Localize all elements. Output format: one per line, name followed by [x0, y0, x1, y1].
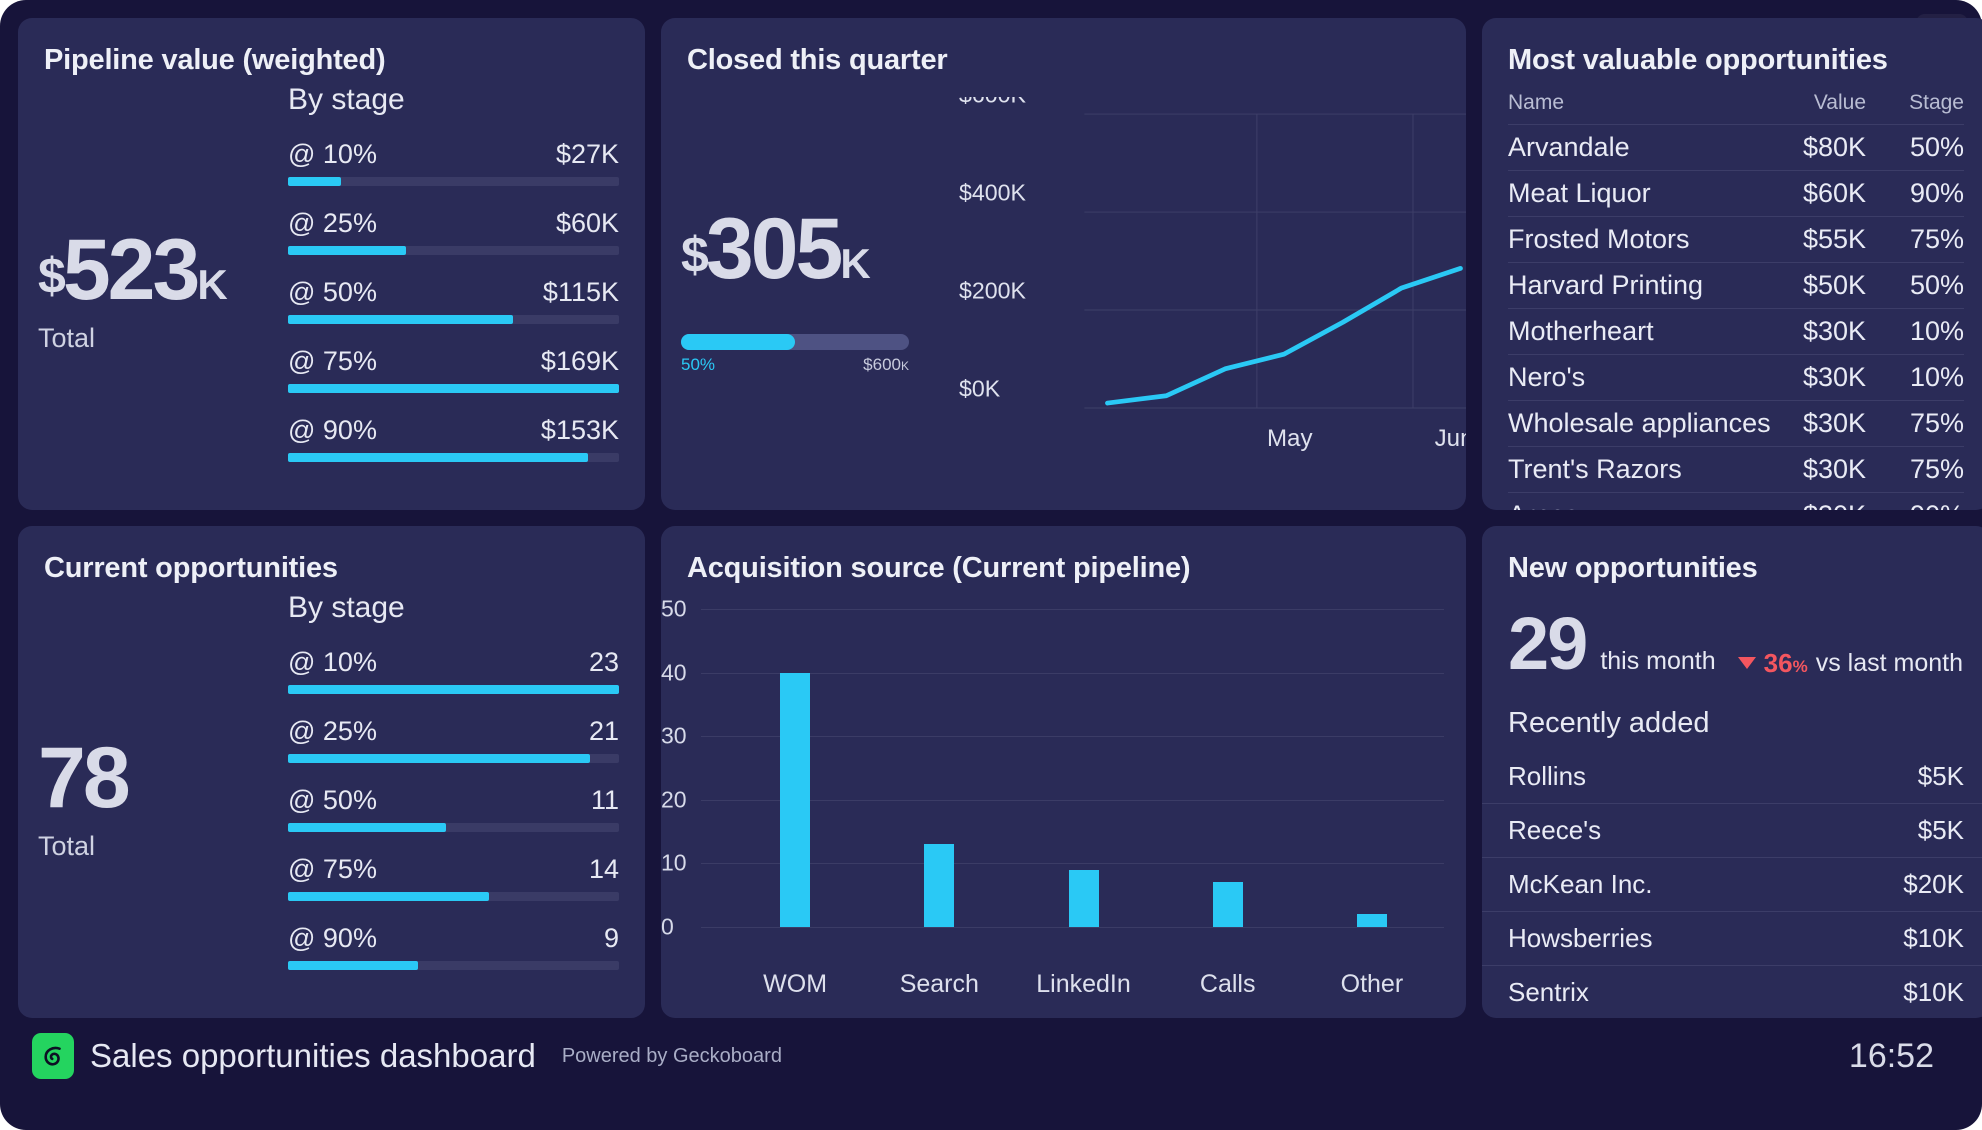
list-item[interactable]: Sentrix$10K [1482, 965, 1982, 1018]
cell-stage: 50% [1872, 125, 1964, 171]
closed-goal-progress: 50% $600K [681, 334, 909, 375]
svg-text:$200K: $200K [959, 278, 1027, 304]
pipeline-stage-fill [288, 384, 619, 393]
cell-value: $55K [1796, 217, 1872, 263]
svg-text:$0K: $0K [959, 376, 1001, 402]
bar [924, 844, 954, 927]
current-stage-value: 23 [589, 647, 619, 678]
cell-value: $30K [1796, 493, 1872, 511]
panel-title-pipeline-value: Pipeline value (weighted) [18, 18, 645, 77]
pipeline-stage-row: @ 50%$115K [288, 277, 619, 324]
cell-value: $30K [1796, 355, 1872, 401]
bar-column [867, 609, 1011, 927]
current-stage-track [288, 823, 619, 832]
panel-title-acquisition-source: Acquisition source (Current pipeline) [661, 526, 1466, 585]
pipeline-stage-row: @ 90%$153K [288, 415, 619, 462]
current-stage-label: @ 25% [288, 716, 377, 747]
current-stage-value: 14 [589, 854, 619, 885]
list-item[interactable]: Rollins$5K [1482, 750, 1982, 803]
closed-goal-max-suffix: K [901, 359, 909, 373]
pipeline-total-suffix: K [197, 261, 227, 308]
panel-most-valuable: Most valuable opportunities Name Value S… [1482, 18, 1982, 510]
new-opportunities-summary: 29 this month 36% vs last month [1482, 585, 1982, 681]
pipeline-stage-fill [288, 453, 588, 462]
list-item-value: $5K [1918, 761, 1964, 792]
new-opportunities-delta: 36% vs last month [1738, 648, 1963, 679]
cell-stage: 90% [1872, 493, 1964, 511]
list-item-name: Sentrix [1508, 977, 1589, 1008]
bar [1357, 914, 1387, 927]
pipeline-stage-row: @ 10%$27K [288, 139, 619, 186]
panel-acquisition-source: Acquisition source (Current pipeline) 01… [661, 526, 1466, 1018]
table-row[interactable]: Meat Liquor$60K90% [1508, 171, 1964, 217]
cell-name: Nero's [1508, 355, 1796, 401]
pipeline-stage-track [288, 246, 619, 255]
cell-name: Harvard Printing [1508, 263, 1796, 309]
cell-name: Frosted Motors [1508, 217, 1796, 263]
footer-title: Sales opportunities dashboard [90, 1037, 536, 1075]
cell-value: $50K [1796, 263, 1872, 309]
pipeline-stage-value: $153K [541, 415, 619, 446]
pipeline-stage-row: @ 75%$169K [288, 346, 619, 393]
closed-line-chart: $0K$200K$400K$600KMayJun [937, 77, 1466, 507]
table-row[interactable]: Wholesale appliances$30K75% [1508, 401, 1964, 447]
cell-name: Trent's Razors [1508, 447, 1796, 493]
current-stage-label: @ 75% [288, 854, 377, 885]
pipeline-stage-label: @ 25% [288, 208, 377, 239]
closed-goal-percent: 50% [681, 355, 715, 375]
caret-down-icon [1738, 657, 1756, 669]
pipeline-stage-track [288, 315, 619, 324]
list-item-value: $10K [1903, 923, 1964, 954]
cell-value: $60K [1796, 171, 1872, 217]
table-row[interactable]: Motherheart$30K10% [1508, 309, 1964, 355]
current-stage-track [288, 754, 619, 763]
current-stage-track [288, 961, 619, 970]
pipeline-total-number: $523K [38, 230, 288, 312]
current-stage-fill [288, 961, 418, 970]
pipeline-stage-value: $115K [543, 277, 619, 308]
list-item[interactable]: Reece's$5K [1482, 803, 1982, 857]
list-item-name: McKean Inc. [1508, 869, 1653, 900]
table-row[interactable]: Arvandale$80K50% [1508, 125, 1964, 171]
panel-title-current-opportunities: Current opportunities [18, 526, 645, 585]
pipeline-by-stage-heading: By stage [288, 83, 619, 117]
cell-value: $30K [1796, 401, 1872, 447]
list-item-value: $10K [1903, 977, 1964, 1008]
closed-total-currency: $ [681, 227, 706, 283]
current-stage-track [288, 685, 619, 694]
current-stage-row: @ 10%23 [288, 647, 619, 694]
recently-added-heading: Recently added [1482, 681, 1982, 750]
x-axis-tick-label: Other [1300, 970, 1444, 999]
pipeline-stage-label: @ 75% [288, 346, 377, 377]
bar [780, 673, 810, 927]
panel-current-opportunities: Current opportunities 78 Total By stage … [18, 526, 645, 1018]
svg-text:$600K: $600K [959, 97, 1027, 108]
closed-total-suffix: K [840, 240, 870, 287]
current-stage-fill [288, 754, 590, 763]
new-opportunities-period: this month [1600, 647, 1715, 676]
current-by-stage-heading: By stage [288, 591, 619, 625]
x-axis-tick-label: Calls [1156, 970, 1300, 999]
cell-name: Meat Liquor [1508, 171, 1796, 217]
current-stage-list: By stage @ 10%23@ 25%21@ 50%11@ 75%14@ 9… [288, 585, 645, 1015]
gridline [701, 927, 1444, 928]
current-stage-row: @ 25%21 [288, 716, 619, 763]
acquisition-plot-area [723, 609, 1444, 927]
pipeline-stage-label: @ 10% [288, 139, 377, 170]
x-axis-tick-label: WOM [723, 970, 867, 999]
current-stage-row: @ 50%11 [288, 785, 619, 832]
footer-powered-by: Powered by Geckoboard [562, 1045, 782, 1068]
pipeline-total-value: 523 [63, 222, 198, 318]
table-row[interactable]: Arnos$30K90% [1508, 493, 1964, 511]
current-total-block: 78 Total [18, 585, 288, 1015]
list-item-value: $5K [1918, 815, 1964, 846]
bar-column [1156, 609, 1300, 927]
cell-stage: 50% [1872, 263, 1964, 309]
list-item-name: Howsberries [1508, 923, 1653, 954]
new-opportunities-delta-label: vs last month [1816, 649, 1963, 678]
cell-value: $30K [1796, 447, 1872, 493]
table-row[interactable]: Harvard Printing$50K50% [1508, 263, 1964, 309]
delta-number: 36 [1764, 648, 1793, 678]
pipeline-stage-track [288, 384, 619, 393]
bar-column [1011, 609, 1155, 927]
new-opportunities-delta-value: 36% [1764, 648, 1808, 679]
bar [1213, 882, 1243, 927]
y-axis-tick-label: 10 [661, 850, 687, 877]
current-stage-value: 11 [591, 785, 619, 816]
current-stage-value: 9 [604, 923, 619, 954]
geckoboard-logo-icon [32, 1033, 74, 1079]
pipeline-total-block: $523K Total [18, 77, 288, 507]
table-header-row: Name Value Stage [1508, 91, 1964, 125]
panel-title-closed-quarter: Closed this quarter [661, 18, 1466, 77]
cell-stage: 75% [1872, 401, 1964, 447]
panel-new-opportunities: New opportunities 29 this month 36% vs l… [1482, 526, 1982, 1018]
current-stage-label: @ 10% [288, 647, 377, 678]
bar-column [1300, 609, 1444, 927]
dashboard-root: Pipeline value (weighted) $523K Total By… [0, 0, 1982, 1130]
current-stage-track [288, 892, 619, 901]
svg-text:Jun: Jun [1435, 425, 1466, 452]
table-row[interactable]: Trent's Razors$30K75% [1508, 447, 1964, 493]
list-item-name: Reece's [1508, 815, 1601, 846]
closed-goal-fill [681, 334, 795, 350]
pipeline-stage-fill [288, 177, 341, 186]
pipeline-stage-label: @ 50% [288, 277, 377, 308]
cell-stage: 10% [1872, 355, 1964, 401]
list-item[interactable]: McKean Inc.$20K [1482, 857, 1982, 911]
pipeline-stage-value: $169K [541, 346, 619, 377]
table-row[interactable]: Nero's$30K10% [1508, 355, 1964, 401]
closed-goal-max-value: $600 [863, 355, 901, 374]
most-valuable-table: Name Value Stage Arvandale$80K50%Meat Li… [1508, 91, 1964, 510]
closed-goal-track [681, 334, 909, 350]
current-stage-label: @ 50% [288, 785, 377, 816]
bar [1069, 870, 1099, 927]
current-stage-value: 21 [589, 716, 619, 747]
current-total-number: 78 [38, 738, 288, 820]
pipeline-stage-value: $27K [556, 139, 619, 170]
pipeline-stage-track [288, 453, 619, 462]
footer-clock: 16:52 [1849, 1037, 1948, 1076]
cell-stage: 90% [1872, 171, 1964, 217]
pipeline-stage-fill [288, 246, 406, 255]
pipeline-stage-label: @ 90% [288, 415, 377, 446]
panel-closed-this-quarter: Closed this quarter $305K 50% $600K [661, 18, 1466, 510]
cell-value: $80K [1796, 125, 1872, 171]
current-stage-row: @ 75%14 [288, 854, 619, 901]
pipeline-stage-value: $60K [556, 208, 619, 239]
current-stage-fill [288, 823, 446, 832]
new-opportunities-count: 29 [1508, 607, 1586, 681]
acquisition-bar-chart: 01020304050 WOMSearchLinkedInCallsOther [661, 585, 1466, 1005]
pipeline-stage-list: By stage @ 10%$27K@ 25%$60K@ 50%$115K@ 7… [288, 77, 645, 507]
svg-text:May: May [1267, 425, 1313, 452]
column-header-name: Name [1508, 91, 1796, 125]
closed-total-number: $305K [681, 209, 937, 291]
x-axis-tick-label: Search [867, 970, 1011, 999]
dashboard-footer: Sales opportunities dashboard Powered by… [18, 1018, 1964, 1094]
column-header-stage: Stage [1872, 91, 1964, 125]
table-row[interactable]: Frosted Motors$55K75% [1508, 217, 1964, 263]
current-stage-row: @ 90%9 [288, 923, 619, 970]
closed-total-value: 305 [706, 201, 841, 297]
y-axis-tick-label: 30 [661, 723, 687, 750]
panel-title-most-valuable: Most valuable opportunities [1482, 18, 1982, 77]
closed-quarter-line-svg: $0K$200K$400K$600KMayJun [959, 97, 1466, 463]
y-axis-tick-label: 0 [661, 914, 674, 941]
pipeline-stage-fill [288, 315, 513, 324]
svg-text:$400K: $400K [959, 180, 1027, 206]
cell-name: Motherheart [1508, 309, 1796, 355]
bar-column [723, 609, 867, 927]
cell-value: $30K [1796, 309, 1872, 355]
current-stage-fill [288, 892, 489, 901]
y-axis-tick-label: 40 [661, 659, 687, 686]
pipeline-total-currency: $ [38, 248, 63, 304]
current-stage-label: @ 90% [288, 923, 377, 954]
panel-pipeline-value: Pipeline value (weighted) $523K Total By… [18, 18, 645, 510]
y-axis-tick-label: 20 [661, 786, 687, 813]
list-item-name: Rollins [1508, 761, 1586, 792]
current-total-label: Total [38, 831, 288, 862]
panel-title-new-opportunities: New opportunities [1482, 526, 1982, 585]
list-item[interactable]: Howsberries$10K [1482, 911, 1982, 965]
cell-name: Arvandale [1508, 125, 1796, 171]
closed-total-block: $305K 50% $600K [667, 77, 937, 507]
column-header-value: Value [1796, 91, 1872, 125]
pipeline-stage-track [288, 177, 619, 186]
cell-stage: 10% [1872, 309, 1964, 355]
pipeline-total-label: Total [38, 323, 288, 354]
delta-unit: % [1793, 657, 1808, 676]
cell-name: Wholesale appliances [1508, 401, 1796, 447]
cell-name: Arnos [1508, 493, 1796, 511]
y-axis-tick-label: 50 [661, 596, 687, 623]
x-axis-tick-label: LinkedIn [1011, 970, 1155, 999]
pipeline-stage-row: @ 25%$60K [288, 208, 619, 255]
current-stage-fill [288, 685, 619, 694]
list-item-value: $20K [1903, 869, 1964, 900]
cell-stage: 75% [1872, 447, 1964, 493]
dashboard-grid: Pipeline value (weighted) $523K Total By… [18, 18, 1964, 1018]
cell-stage: 75% [1872, 217, 1964, 263]
closed-goal-max: $600K [863, 355, 909, 375]
